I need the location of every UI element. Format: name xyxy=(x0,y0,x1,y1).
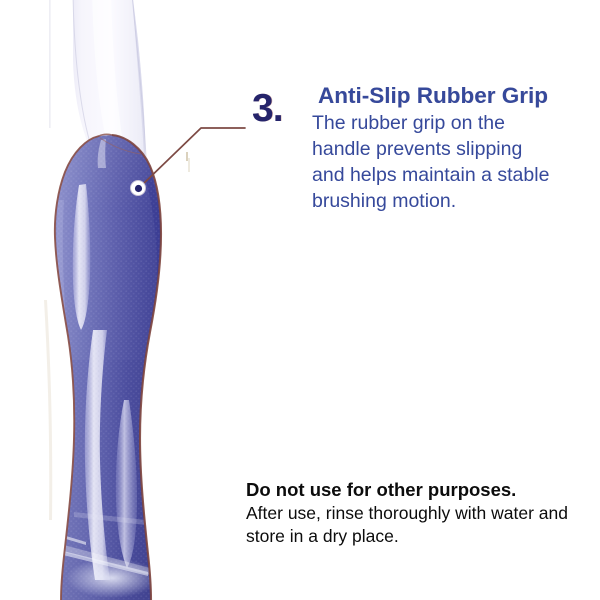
footer-note: Do not use for other purposes. After use… xyxy=(246,478,598,548)
footer-note-title: Do not use for other purposes. xyxy=(246,478,598,501)
callout-description-line-3: and helps maintain a stable xyxy=(312,163,588,189)
footer-note-line-2: store in a dry place. xyxy=(246,525,598,548)
callout-title: Anti-Slip Rubber Grip xyxy=(318,84,588,109)
background-seam-line xyxy=(49,0,50,128)
callout-description: The rubber grip on the handle prevents s… xyxy=(312,111,588,215)
callout-description-line-4: brushing motion. xyxy=(312,189,588,215)
callout-text-body: Anti-Slip Rubber Grip The rubber grip on… xyxy=(312,84,588,214)
product-photo-toothbrush xyxy=(0,0,260,600)
callout-step-number: 3. xyxy=(252,89,283,128)
footer-note-line-1: After use, rinse thoroughly with water a… xyxy=(246,502,598,525)
callout-description-line-2: handle prevents slipping xyxy=(312,137,588,163)
footer-note-description: After use, rinse thoroughly with water a… xyxy=(246,502,598,548)
callout-block: 3. Anti-Slip Rubber Grip The rubber grip… xyxy=(248,84,588,214)
screenshot-canvas: 3. Anti-Slip Rubber Grip The rubber grip… xyxy=(0,0,600,600)
callout-description-line-1: The rubber grip on the xyxy=(312,111,588,137)
